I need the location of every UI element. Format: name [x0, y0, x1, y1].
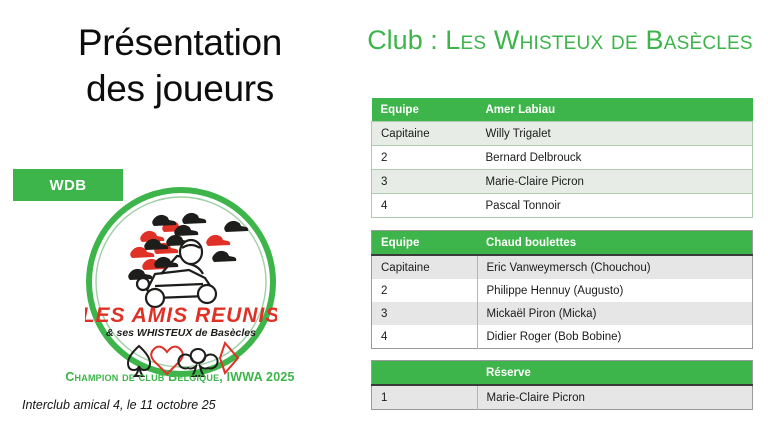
cell-position: Capitaine: [372, 255, 478, 279]
champion-caption: Champion de club Belgique, IWWA 2025: [0, 370, 360, 384]
table-row: 2 Philippe Hennuy (Augusto): [372, 279, 753, 302]
column-header-equipe: Equipe: [372, 231, 478, 256]
logo-name-sub: & ses WHISTEUX de Basècles: [106, 327, 256, 339]
column-header-team-name: Amer Labiau: [477, 98, 753, 122]
team-table-reserve: Réserve 1 Marie-Claire Picron: [371, 360, 753, 410]
logo-name-main: LES AMIS REUNIS: [85, 304, 277, 327]
table-row: 3 Mickaël Piron (Micka): [372, 302, 753, 325]
table-header-row: Equipe Amer Labiau: [372, 98, 753, 122]
team-table-amer-labiau: Equipe Amer Labiau Capitaine Willy Triga…: [371, 98, 753, 218]
table-row: 2 Bernard Delbrouck: [372, 146, 753, 170]
cell-player: Marie-Claire Picron: [477, 170, 753, 194]
club-heading-label: Club :: [367, 25, 438, 55]
club-heading: Club : Les Whisteux de Basècles: [360, 24, 760, 57]
interclub-caption: Interclub amical 4, le 11 octobre 25: [22, 398, 216, 412]
cell-position: 3: [372, 302, 478, 325]
cell-position: 1: [372, 385, 478, 410]
table-row: 3 Marie-Claire Picron: [372, 170, 753, 194]
table-header-row: Réserve: [372, 361, 753, 386]
cell-position: 4: [372, 325, 478, 349]
page-title-line-1: Présentation: [0, 20, 360, 66]
table-row: 4 Didier Roger (Bob Bobine): [372, 325, 753, 349]
left-panel: Présentation des joueurs WDB: [0, 0, 360, 431]
cell-position: 4: [372, 194, 477, 218]
column-header-empty: [372, 361, 478, 386]
cell-player: Pascal Tonnoir: [477, 194, 753, 218]
table-row: Capitaine Willy Trigalet: [372, 122, 753, 146]
page-title: Présentation des joueurs: [0, 20, 360, 112]
column-header-team-name: Chaud boulettes: [477, 231, 753, 256]
column-header-reserve: Réserve: [477, 361, 753, 386]
right-panel: Club : Les Whisteux de Basècles Equipe A…: [360, 0, 768, 431]
cell-player: Eric Vanweymersch (Chouchou): [477, 255, 753, 279]
cell-position: 2: [372, 279, 478, 302]
column-header-equipe: Equipe: [372, 98, 477, 122]
cell-player: Willy Trigalet: [477, 122, 753, 146]
cell-player: Bernard Delbrouck: [477, 146, 753, 170]
table-row: Capitaine Eric Vanweymersch (Chouchou): [372, 255, 753, 279]
club-heading-name: Les Whisteux de Basècles: [445, 25, 753, 55]
cell-player: Marie-Claire Picron: [477, 385, 753, 410]
club-logo: LES AMIS REUNIS & ses WHISTEUX de Basècl…: [85, 186, 277, 378]
table-row: 4 Pascal Tonnoir: [372, 194, 753, 218]
cell-position: Capitaine: [372, 122, 477, 146]
table-row: 1 Marie-Claire Picron: [372, 385, 753, 410]
table-header-row: Equipe Chaud boulettes: [372, 231, 753, 256]
cell-position: 3: [372, 170, 477, 194]
team-table-chaud-boulettes: Equipe Chaud boulettes Capitaine Eric Va…: [371, 230, 753, 349]
page-title-line-2: des joueurs: [0, 66, 360, 112]
cell-player: Philippe Hennuy (Augusto): [477, 279, 753, 302]
cell-player: Didier Roger (Bob Bobine): [477, 325, 753, 349]
cell-position: 2: [372, 146, 477, 170]
cell-player: Mickaël Piron (Micka): [477, 302, 753, 325]
